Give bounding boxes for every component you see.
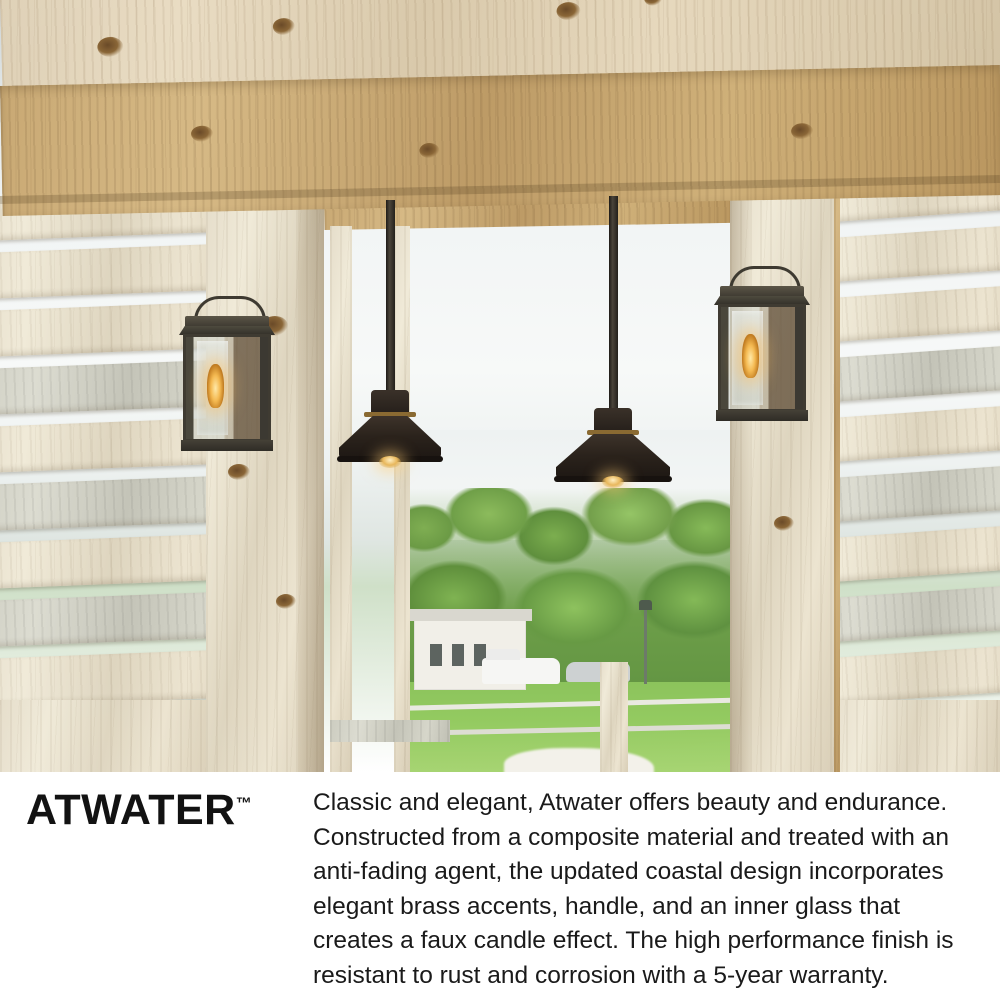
faux-candle-flame <box>742 334 758 379</box>
louver-slat <box>826 523 1000 585</box>
wood-post-left <box>206 196 324 772</box>
bottom-rail-left <box>0 700 214 772</box>
louver-slat <box>826 223 1000 285</box>
louver-slat <box>0 532 214 590</box>
louver-slat <box>826 583 1000 645</box>
pendant-bulb <box>602 476 624 488</box>
louver-slat <box>826 343 1000 405</box>
house-roof <box>408 609 532 621</box>
bottom-rail-right <box>826 700 1000 772</box>
wood-knot <box>644 0 662 6</box>
brand-name-text: ATWATER <box>26 786 236 834</box>
product-description: Classic and elegant, Atwater offers beau… <box>313 786 961 993</box>
pendant-rod <box>609 196 618 414</box>
pendant-bulb <box>379 456 401 468</box>
post-shadow-edge <box>298 196 324 772</box>
wall-lantern-right[interactable] <box>706 266 818 438</box>
lantern-body <box>183 334 271 442</box>
description-panel: ATWATER™ Classic and elegant, Atwater of… <box>0 772 1000 1000</box>
louver-slat <box>0 590 214 648</box>
wood-knot <box>556 2 580 21</box>
pendant-rod <box>386 200 395 396</box>
louvered-wall-right <box>826 176 1000 772</box>
product-photo <box>0 0 1000 772</box>
trademark-icon: ™ <box>236 796 252 813</box>
louver-slat <box>0 648 214 708</box>
wood-knot <box>228 464 250 480</box>
house-window <box>430 644 442 666</box>
wood-knot <box>419 143 439 158</box>
louver-slat <box>826 403 1000 465</box>
lantern-base <box>716 410 808 421</box>
wood-knot <box>273 18 295 36</box>
lantern-body <box>718 304 806 412</box>
pendant-light-left[interactable] <box>330 200 450 470</box>
louver-slat <box>0 242 214 300</box>
pendant-light-right[interactable] <box>548 196 678 476</box>
window-sill <box>330 720 450 742</box>
louver-slat <box>826 283 1000 345</box>
wood-knot <box>791 123 813 139</box>
louver-slat <box>826 643 1000 707</box>
wood-knot <box>191 126 213 142</box>
wood-knot <box>774 516 794 531</box>
lamp-post <box>644 608 647 684</box>
louver-slat <box>826 463 1000 525</box>
wood-knot <box>276 594 296 609</box>
pendant-shade <box>339 416 441 460</box>
brand-name: ATWATER™ <box>26 786 252 835</box>
wall-lantern-left[interactable] <box>172 296 282 466</box>
pendant-shade <box>556 434 670 480</box>
faux-candle-flame <box>207 364 223 409</box>
lantern-base <box>181 440 273 451</box>
house-window <box>452 644 464 666</box>
louver-slat <box>0 474 214 532</box>
wood-knot <box>97 37 124 58</box>
fence-post <box>600 662 628 772</box>
product-image-card: ATWATER™ Classic and elegant, Atwater of… <box>0 0 1000 1000</box>
louvered-wall-left <box>0 196 214 772</box>
pickup-truck <box>482 658 560 684</box>
